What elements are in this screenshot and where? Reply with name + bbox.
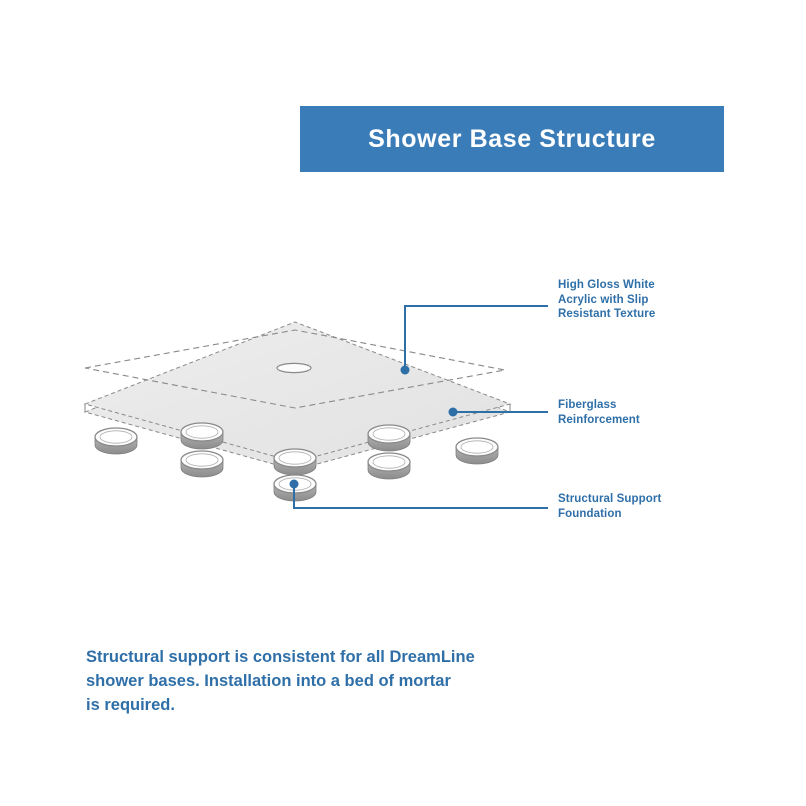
callout-label-acrylic: High Gloss White Acrylic with Slip Resis… <box>558 278 728 322</box>
support-ring <box>456 438 498 464</box>
callout-label-fiberglass: Fiberglass Reinforcement <box>558 398 728 427</box>
footer-caption: Structural support is consistent for all… <box>86 645 516 717</box>
support-ring <box>95 428 137 454</box>
support-ring <box>368 453 410 479</box>
leader-dot-icon <box>290 480 299 489</box>
support-ring <box>181 423 223 449</box>
callout-label-support: Structural Support Foundation <box>558 492 728 521</box>
diagram-page: Shower Base Structure <box>0 0 806 806</box>
leader-dot-icon <box>449 408 458 417</box>
leader-dot-icon <box>401 366 410 375</box>
support-ring <box>368 425 410 451</box>
support-ring <box>181 451 223 477</box>
fiberglass-slab <box>85 322 510 470</box>
drain-opening-icon <box>277 363 311 372</box>
support-ring <box>274 449 316 475</box>
callout-leader-support <box>290 480 549 509</box>
fiberglass-slab-top-face <box>85 322 510 462</box>
